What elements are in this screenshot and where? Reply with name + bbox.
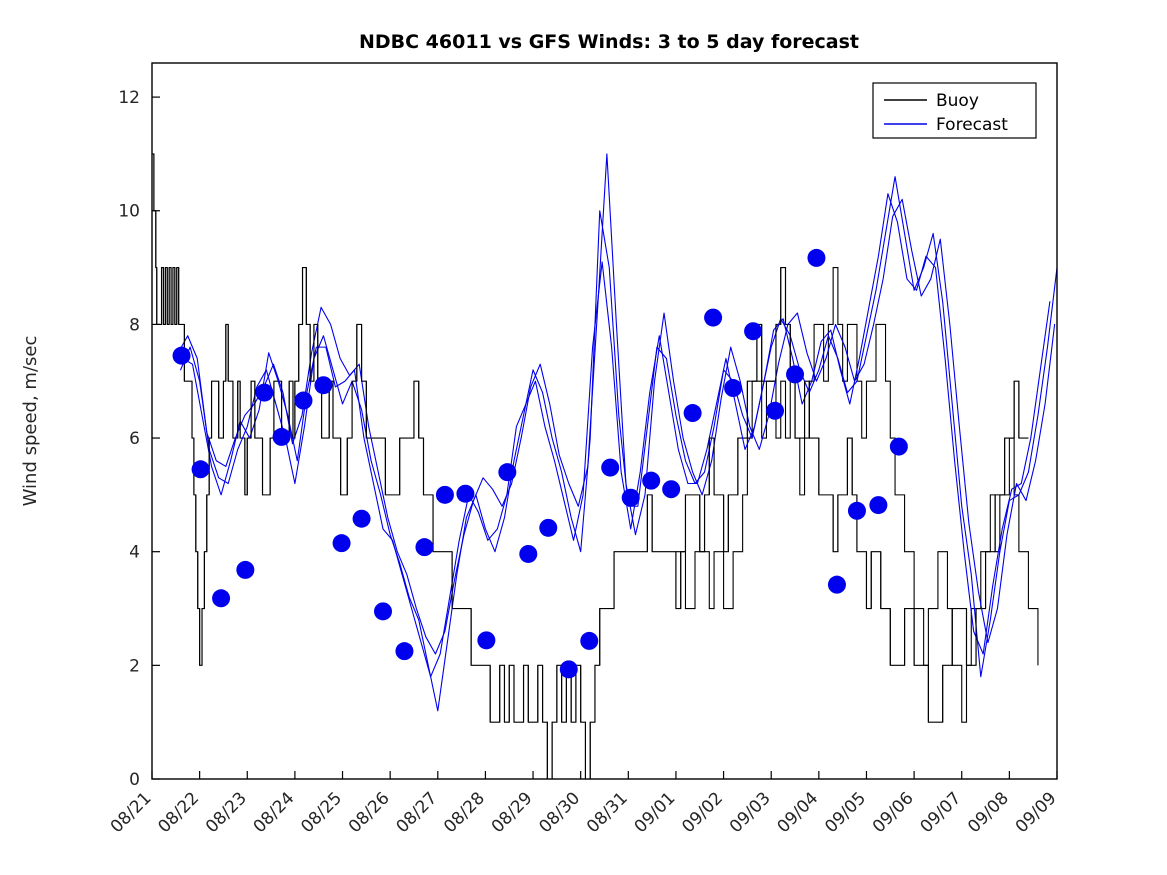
daily-mean-marker: [395, 642, 413, 660]
daily-mean-marker: [236, 561, 254, 579]
legend-label-forecast: Forecast: [936, 115, 1008, 135]
daily-mean-marker: [456, 485, 474, 503]
daily-mean-marker: [314, 376, 332, 394]
y-tick-label: 10: [118, 202, 140, 222]
daily-mean-marker: [869, 496, 887, 514]
daily-mean-marker: [828, 576, 846, 594]
daily-mean-marker: [744, 322, 762, 340]
daily-mean-marker: [786, 365, 804, 383]
daily-mean-marker: [255, 384, 273, 402]
y-tick-label: 2: [129, 656, 140, 676]
chart-title: NDBC 46011 vs GFS Winds: 3 to 5 day fore…: [359, 31, 859, 53]
legend-label-buoy: Buoy: [936, 91, 979, 111]
chart-figure: NDBC 46011 vs GFS Winds: 3 to 5 day fore…: [0, 0, 1167, 875]
daily-mean-marker: [580, 632, 598, 650]
daily-mean-marker: [173, 347, 191, 365]
daily-mean-marker: [415, 538, 433, 556]
daily-mean-marker: [436, 486, 454, 504]
daily-mean-marker: [294, 392, 312, 410]
chart-legend[interactable]: Buoy Forecast: [873, 83, 1036, 138]
y-axis-label: Wind speed, m/sec: [20, 336, 41, 507]
daily-mean-marker: [477, 631, 495, 649]
y-tick-label: 0: [129, 770, 140, 790]
daily-mean-marker: [333, 534, 351, 552]
daily-mean-marker: [374, 602, 392, 620]
daily-mean-marker: [684, 404, 702, 422]
wind-speed-chart: NDBC 46011 vs GFS Winds: 3 to 5 day fore…: [0, 0, 1167, 875]
daily-mean-marker: [212, 589, 230, 607]
daily-mean-marker: [539, 519, 557, 537]
daily-mean-marker: [807, 249, 825, 267]
daily-mean-marker: [498, 463, 516, 481]
daily-mean-marker: [273, 428, 291, 446]
daily-mean-marker: [192, 460, 210, 478]
daily-mean-marker: [724, 379, 742, 397]
daily-mean-marker: [766, 402, 784, 420]
daily-mean-marker: [642, 472, 660, 490]
y-tick-label: 12: [118, 88, 140, 108]
daily-mean-marker: [662, 480, 680, 498]
daily-mean-marker: [353, 510, 371, 528]
daily-mean-marker: [601, 459, 619, 477]
daily-mean-marker: [890, 438, 908, 456]
daily-mean-marker: [622, 489, 640, 507]
daily-mean-marker: [848, 502, 866, 520]
daily-mean-marker: [519, 545, 537, 563]
daily-mean-marker: [560, 660, 578, 678]
y-tick-label: 8: [129, 315, 140, 335]
y-tick-label: 6: [129, 429, 140, 449]
daily-mean-marker: [704, 309, 722, 327]
y-tick-label: 4: [129, 543, 140, 563]
